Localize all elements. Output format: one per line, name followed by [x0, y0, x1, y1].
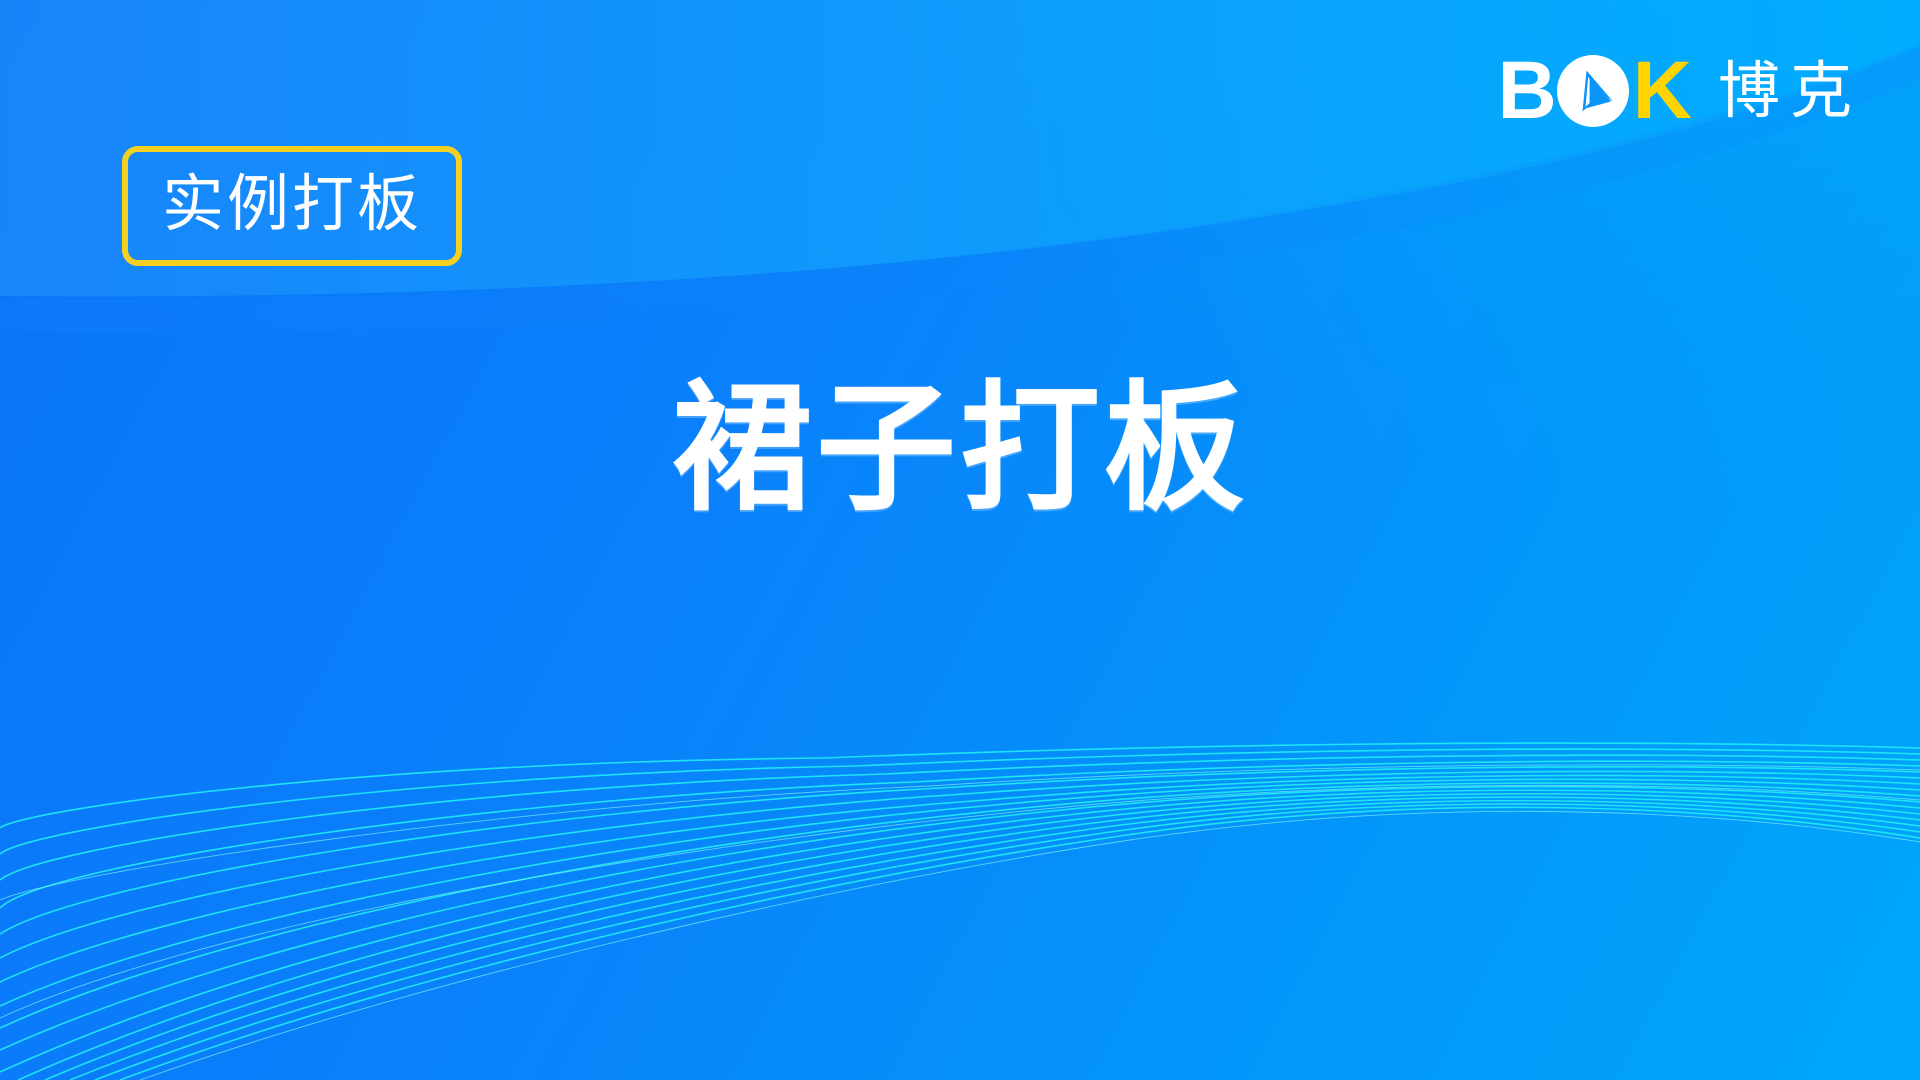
section-badge-label: 实例打板 — [162, 168, 422, 240]
logo-mark: B K — [1498, 52, 1690, 130]
logo-letter-b: B — [1498, 52, 1555, 130]
logo-letter-k: K — [1633, 52, 1690, 130]
section-badge: 实例打板 — [122, 146, 462, 266]
logo-wordmark-cn: 博克 — [1714, 60, 1862, 122]
brand-logo: B K 博克 — [1498, 52, 1862, 130]
title-container: 裙子打板 — [0, 370, 1920, 530]
page-title: 裙子打板 — [672, 370, 1248, 530]
play-cursor-icon — [1556, 54, 1630, 128]
slide-root: B K 博克 实例打板 裙子打板 — [0, 0, 1920, 1080]
